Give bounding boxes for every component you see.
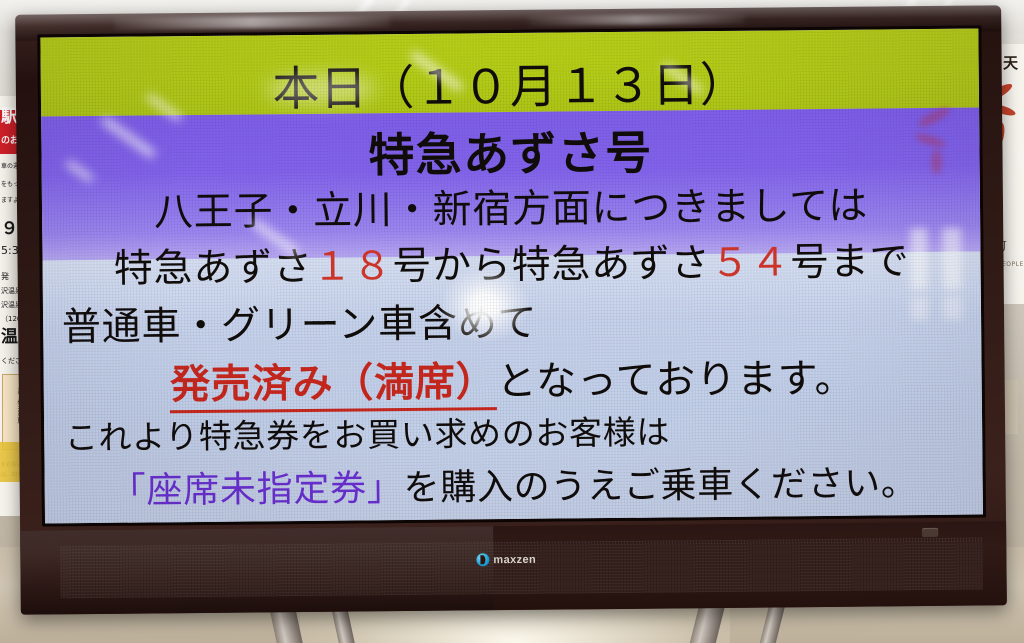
tv-brand-name: maxzen bbox=[493, 553, 536, 565]
range-middle: 号から特急あずさ bbox=[392, 241, 711, 289]
ticket-name: 「座席未指定券」 bbox=[110, 468, 404, 512]
range-number-to: ５４ bbox=[710, 241, 790, 287]
television: 本日（１０月１３日） 特急あずさ号 八王子・立川・新宿方面につきましては 特急あ… bbox=[15, 5, 1007, 614]
tv-top-reflection-2 bbox=[528, 14, 745, 26]
range-suffix: 号まで bbox=[790, 239, 910, 285]
maxzen-logo-icon bbox=[476, 553, 489, 566]
purchase-tail: を購入のうえご乗車ください。 bbox=[403, 463, 917, 509]
sold-out-tail: となっております。 bbox=[496, 356, 855, 405]
car-classes-line: 普通車・グリーン車含めて bbox=[43, 287, 981, 352]
train-number-range: 特急あずさ１８号から特急あずさ５４号まで bbox=[42, 230, 980, 295]
purchase-instruction-line: 「座席未指定券」を購入のうえご乗車ください。 bbox=[44, 453, 982, 514]
poster-kanji: 天 bbox=[1003, 52, 1018, 73]
poster-line-1: 発 bbox=[1, 272, 9, 282]
sold-out-line: 発売済み（満席）となっております。 bbox=[43, 344, 982, 411]
tv-bottom-chin: maxzen bbox=[20, 521, 1007, 614]
photo-scene: 駅間 のお知 車の運休および をもってお知 ますようお願い ９日 5:30 発 … bbox=[0, 0, 1024, 643]
screen-bezel: 本日（１０月１３日） 特急あずさ号 八王子・立川・新宿方面につきましては 特急あ… bbox=[37, 25, 986, 526]
direction-line: 八王子・立川・新宿方面につきましては bbox=[42, 173, 980, 238]
ir-receiver-icon bbox=[922, 528, 938, 537]
chin-gloss bbox=[20, 526, 494, 615]
range-number-from: １８ bbox=[312, 244, 392, 290]
range-prefix: 特急あずさ bbox=[114, 245, 313, 292]
sold-out-badge: 発売済み（満席） bbox=[170, 359, 497, 413]
announcement-date: 本日（１０月１３日） bbox=[41, 43, 980, 121]
display-screen[interactable]: 本日（１０月１３日） 特急あずさ号 八王子・立川・新宿方面につきましては 特急あ… bbox=[40, 29, 983, 524]
tv-brand-badge: maxzen bbox=[476, 553, 536, 567]
customers-line: これより特急券をお買い求めのお客様は bbox=[44, 403, 982, 460]
